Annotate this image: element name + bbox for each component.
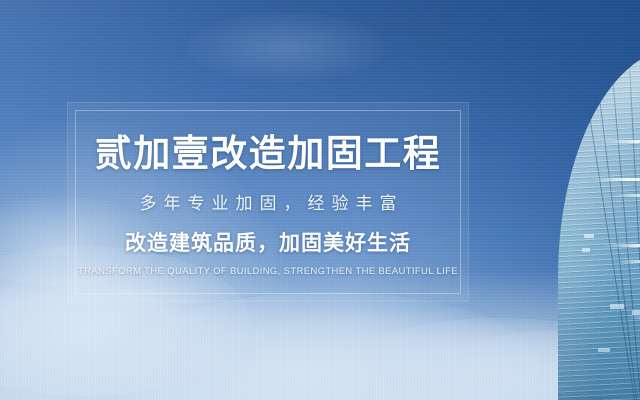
skyscraper-image bbox=[540, 48, 640, 400]
page-title: 贰加壹改造加固工程 bbox=[95, 135, 442, 172]
panel-content: 贰加壹改造加固工程 多年专业加固，经验丰富 改造建筑品质，加固美好生活 TRAN… bbox=[68, 103, 468, 301]
hero-banner: 贰加壹改造加固工程 多年专业加固，经验丰富 改造建筑品质，加固美好生活 TRAN… bbox=[0, 0, 640, 400]
slogan-text: 改造建筑品质，加固美好生活 bbox=[125, 233, 411, 254]
tower-body bbox=[558, 48, 640, 400]
hero-text-panel: 贰加壹改造加固工程 多年专业加固，经验丰富 改造建筑品质，加固美好生活 TRAN… bbox=[68, 103, 468, 301]
subtitle-text: 多年专业加固，经验丰富 bbox=[133, 195, 404, 212]
english-tagline: TRANSFORM THE QUALITY OF BUILDING, STREN… bbox=[78, 267, 458, 277]
